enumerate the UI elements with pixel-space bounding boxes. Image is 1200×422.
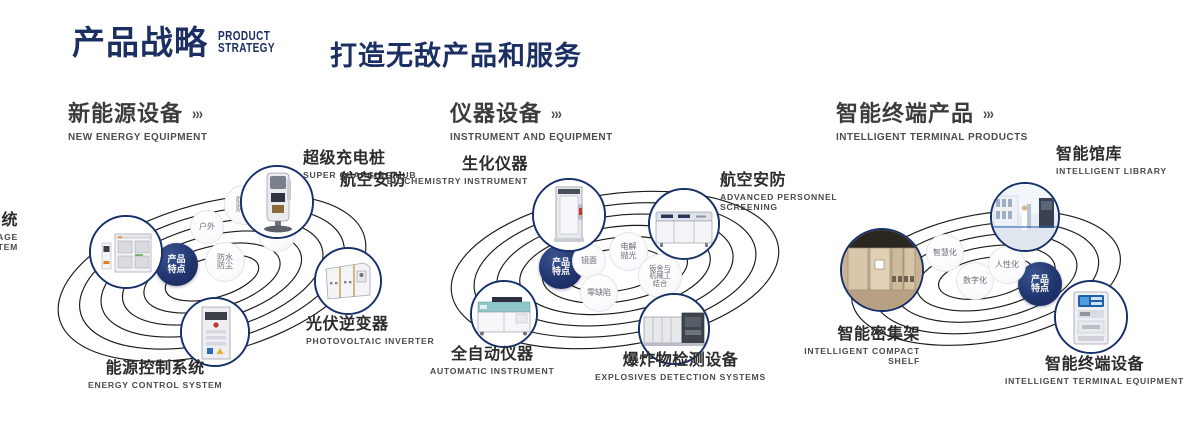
section-heading-new-energy: 新能源设备 ››› NEW ENERGY EQUIPMENT: [68, 96, 207, 143]
page-title-cn: 产品战略: [72, 26, 208, 59]
diagram-intelligent-terminal: 产品 特点 智慧化 数字化 人性化: [800, 150, 1200, 400]
section-heading-cn: 智能终端产品 ›››: [836, 96, 1028, 128]
caption-cn: 智能终端设备: [1005, 356, 1184, 374]
node-intelligent-library[interactable]: [990, 182, 1060, 252]
core-bubble-line2: 特点: [167, 265, 185, 274]
chevron-right-icon: ›››: [983, 104, 993, 123]
control-cabinet-icon: [182, 299, 248, 365]
page-title: 产品战略 PRODUCT STRATEGY: [72, 26, 289, 59]
caption-cn: 储能系统: [0, 212, 18, 230]
feature-bubble: 防水防尘: [205, 242, 245, 282]
section-heading-cn: 新能源设备 ›››: [68, 96, 207, 128]
section-heading-instrument: 仪器设备 ››› INSTRUMENT AND EQUIPMENT: [450, 96, 613, 143]
diagram-instrument: 产品 特点 镜面 电解抛光 零缺陷 钣金与机械工结合: [400, 150, 820, 400]
section-heading-en: INSTRUMENT AND EQUIPMENT: [450, 132, 613, 143]
caption-en: ENERGY CONTROL SYSTEM: [88, 380, 222, 391]
auto-analyzer-icon: [472, 282, 536, 346]
node-intelligent-compact-shelf[interactable]: [840, 228, 924, 312]
node-energy-control-system[interactable]: [180, 297, 250, 367]
node-biochemistry-instrument[interactable]: [532, 178, 606, 252]
chevron-right-icon: ›››: [551, 104, 561, 123]
security-scanner-icon: [534, 180, 604, 250]
section-heading-intelligent-terminal: 智能终端产品 ››› INTELLIGENT TERMINAL PRODUCTS: [836, 96, 1028, 143]
caption-cn: 智能馆库: [1056, 146, 1167, 164]
caption-en: INTELLIGENT COMPACT SHELF: [780, 346, 920, 367]
product-strategy-infographic: 产品战略 PRODUCT STRATEGY 打造无敌产品和服务 新能源设备 ››…: [0, 0, 1200, 422]
section-heading-cn: 仪器设备 ›››: [450, 96, 613, 128]
page-title-en-line2: STRATEGY: [218, 43, 275, 55]
feature-bubble: 户外: [190, 210, 224, 244]
caption-en: INTELLIGENT TERMINAL EQUIPMENT: [1005, 376, 1184, 387]
page-title-en: PRODUCT STRATEGY: [218, 31, 275, 54]
section-heading-cn-text: 仪器设备: [450, 96, 542, 128]
core-bubble-line2: 特点: [1031, 284, 1049, 293]
caption-energy-storage-system: 储能系统 ENERGY STORAGE SYSTEM: [0, 212, 18, 253]
caption-cn: 智能密集架: [780, 326, 920, 344]
caption-biochemistry-instrument: 生化仪器 BIOCHEMISTRY INSTRUMENT: [378, 156, 528, 186]
node-energy-storage-system[interactable]: [89, 215, 163, 289]
feature-bubble-label: 防水防尘: [215, 254, 235, 271]
page-slogan: 打造无敌产品和服务: [330, 34, 582, 73]
section-heading-en: NEW ENERGY EQUIPMENT: [68, 132, 207, 143]
caption-cn: 爆炸物检测设备: [595, 352, 766, 370]
caption-intelligent-compact-shelf: 智能密集架 INTELLIGENT COMPACT SHELF: [780, 326, 920, 367]
caption-intelligent-terminal-equipment: 智能终端设备 INTELLIGENT TERMINAL EQUIPMENT: [1005, 356, 1184, 386]
charging-pile-icon: [242, 167, 312, 237]
caption-en: EXPLOSIVES DETECTION SYSTEMS: [595, 372, 766, 383]
caption-automatic-instrument: 全自动仪器 AUTOMATIC INSTRUMENT: [430, 346, 554, 376]
caption-energy-control-system: 能源控制系统 ENERGY CONTROL SYSTEM: [88, 360, 222, 390]
battery-cabinet-icon: [91, 217, 161, 287]
feature-bubble: 零缺陷: [580, 274, 618, 312]
caption-explosives-detection-systems: 爆炸物检测设备 EXPLOSIVES DETECTION SYSTEMS: [595, 352, 766, 382]
screening-machine-icon: [650, 190, 718, 258]
kiosk-terminal-icon: [1056, 282, 1126, 352]
section-heading-cn-text: 新能源设备: [68, 96, 183, 128]
node-advanced-personnel-screening[interactable]: [648, 188, 720, 260]
core-bubble-line2: 特点: [552, 267, 570, 276]
library-room-icon: [992, 184, 1058, 250]
feature-bubble-label: 钣金与机械工结合: [647, 265, 673, 288]
node-automatic-instrument[interactable]: [470, 280, 538, 348]
compact-shelf-icon: [842, 230, 922, 310]
caption-en: ENERGY STORAGE SYSTEM: [0, 232, 18, 253]
caption-cn: 全自动仪器: [430, 346, 554, 364]
node-intelligent-terminal-equipment[interactable]: [1054, 280, 1128, 354]
caption-cn: 生化仪器: [378, 156, 528, 174]
inverter-cabinet-icon: [316, 249, 380, 313]
caption-intelligent-library: 智能馆库 INTELLIGENT LIBRARY: [1056, 146, 1167, 176]
caption-en: INTELLIGENT LIBRARY: [1056, 166, 1167, 177]
node-photovoltaic-inverter[interactable]: [314, 247, 382, 315]
feature-bubble: 钣金与机械工结合: [638, 254, 682, 298]
section-heading-en: INTELLIGENT TERMINAL PRODUCTS: [836, 132, 1028, 143]
caption-en: AUTOMATIC INSTRUMENT: [430, 366, 554, 377]
feature-bubble: 智慧化: [926, 234, 964, 272]
feature-bubble-label: 电解抛光: [619, 243, 638, 260]
section-heading-cn-text: 智能终端产品: [836, 96, 974, 128]
caption-en: BIOCHEMISTRY INSTRUMENT: [378, 176, 528, 187]
chevron-right-icon: ›››: [192, 104, 202, 123]
caption-cn: 能源控制系统: [88, 360, 222, 378]
